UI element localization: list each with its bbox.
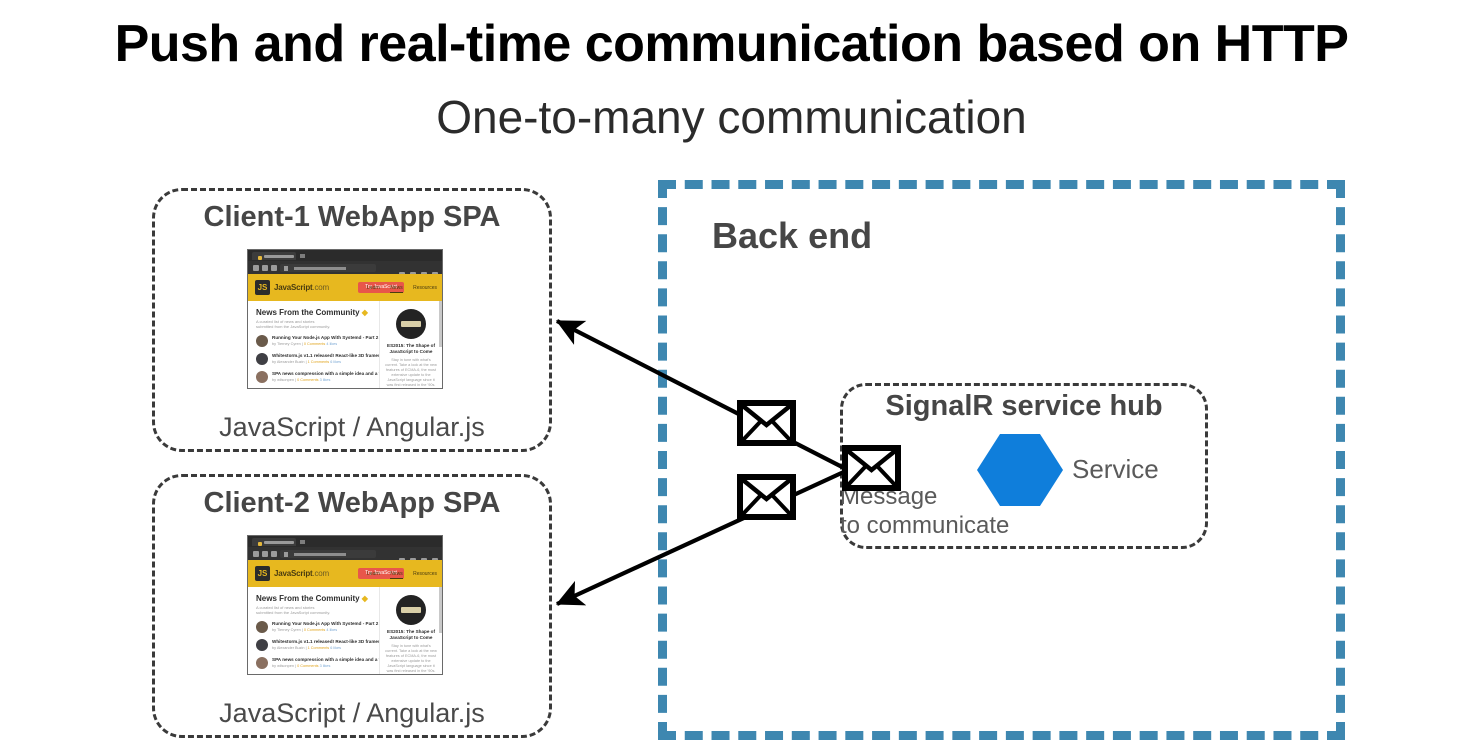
- article-author: by Alexander Buzin: [272, 646, 305, 650]
- browser-url-bar: [280, 550, 376, 558]
- browser-tab: [252, 538, 296, 546]
- article-author: by wilsonpen: [272, 378, 294, 382]
- promo-title: ES2015: The Shape of JavaScript to Come: [385, 629, 437, 641]
- browser-favicon: [258, 256, 262, 260]
- client-1-box[interactable]: Client-1 WebApp SPA: [152, 188, 552, 452]
- site-wordmark: JavaScript.com: [274, 283, 329, 292]
- site-nav-news: News: [390, 285, 403, 293]
- browser-scrollbar[interactable]: [439, 301, 442, 347]
- hub-message-label-line2: to communicate: [840, 511, 1009, 540]
- article-score: 6 likes: [330, 646, 341, 650]
- avatar: [256, 657, 268, 669]
- page-subtitle: One-to-many communication: [0, 90, 1463, 144]
- article-author: by Tierney Cyren: [272, 628, 301, 632]
- avatar: [256, 335, 268, 347]
- new-tab-icon: [300, 540, 305, 544]
- article-comments: 0 Comments: [297, 378, 319, 382]
- site-subheading: A curated list of news and stories submi…: [256, 319, 332, 329]
- client-1-browser-screenshot: JS JavaScript.com Try JavaScript Learn N…: [247, 249, 443, 389]
- article-comments: 1 Comments: [308, 360, 330, 364]
- browser-tab-title: [264, 541, 294, 544]
- client-1-title: Client-1 WebApp SPA: [155, 201, 549, 234]
- browser-titlebar: [248, 250, 442, 261]
- article-score: 3 likes: [320, 664, 331, 668]
- browser-url-text: [294, 267, 346, 270]
- promo-body: Stay in tune with what's current. Take a…: [385, 644, 437, 674]
- site-nav-learn: Learn: [367, 571, 380, 577]
- avatar: [256, 353, 268, 365]
- site-wordmark: JavaScript.com: [274, 569, 329, 578]
- site-sidebar: ES2015: The Shape of JavaScript to Come …: [379, 301, 442, 388]
- browser-url-text: [294, 553, 346, 556]
- promo-title: ES2015: The Shape of JavaScript to Come: [385, 343, 437, 355]
- site-header: JS JavaScript.com Try JavaScript Learn N…: [248, 560, 442, 587]
- client-2-title: Client-2 WebApp SPA: [155, 487, 549, 520]
- site-logo-icon: JS: [255, 566, 270, 581]
- site-nav-resources: Resources: [413, 571, 437, 577]
- hub-message-label-line1: Message: [840, 482, 1009, 511]
- article-comments: 1 Comments: [308, 646, 330, 650]
- site-nav-resources: Resources: [413, 285, 437, 291]
- site-sidebar: ES2015: The Shape of JavaScript to Come …: [379, 587, 442, 674]
- forward-icon: [262, 551, 268, 557]
- browser-favicon: [258, 542, 262, 546]
- browser-toolbar: [248, 547, 442, 560]
- site-header: JS JavaScript.com Try JavaScript Learn N…: [248, 274, 442, 301]
- site-body: News From the Community ◆ A curated list…: [248, 587, 442, 674]
- new-tab-icon: [300, 254, 305, 258]
- avatar: [256, 371, 268, 383]
- article-score: 3 likes: [320, 378, 331, 382]
- site-nav: Learn News Resources: [358, 285, 437, 291]
- service-label: Service: [1072, 454, 1159, 485]
- site-logo-icon: JS: [255, 280, 270, 295]
- article-comments: 0 Comments: [304, 342, 326, 346]
- browser-scrollbar[interactable]: [439, 587, 442, 633]
- article-comments: 0 Comments: [297, 664, 319, 668]
- avatar: [256, 621, 268, 633]
- page-title: Push and real-time communication based o…: [0, 14, 1463, 74]
- site-heading: News From the Community ◆: [256, 594, 375, 603]
- back-icon: [253, 265, 259, 271]
- article-author: by Alexander Buzin: [272, 360, 305, 364]
- refresh-icon: [271, 551, 277, 557]
- article-author: by Tierney Cyren: [272, 342, 301, 346]
- promo-body: Stay in tune with what's current. Take a…: [385, 358, 437, 388]
- lock-icon: [284, 552, 288, 557]
- browser-titlebar: [248, 536, 442, 547]
- article-score: 4 likes: [326, 628, 337, 632]
- site-subheading: A curated list of news and stories submi…: [256, 605, 332, 615]
- client-1-footer: JavaScript / Angular.js: [155, 412, 549, 443]
- browser-tab: [252, 252, 296, 260]
- promo-logo-icon: [396, 595, 426, 625]
- refresh-icon: [271, 265, 277, 271]
- window-controls: [406, 540, 438, 544]
- hub-message-label: Message to communicate: [840, 482, 1009, 540]
- site-heading: News From the Community ◆: [256, 308, 375, 317]
- site-nav-learn: Learn: [367, 285, 380, 291]
- back-icon: [253, 551, 259, 557]
- avatar: [256, 639, 268, 651]
- backend-label: Back end: [712, 215, 872, 257]
- browser-tab-title: [264, 255, 294, 258]
- forward-icon: [262, 265, 268, 271]
- window-controls: [406, 254, 438, 258]
- slide-canvas: Push and real-time communication based o…: [0, 0, 1463, 752]
- browser-toolbar: [248, 261, 442, 274]
- client-2-box[interactable]: Client-2 WebApp SPA: [152, 474, 552, 738]
- signalr-hub-title: SignalR service hub: [864, 390, 1184, 423]
- article-score: 4 likes: [326, 342, 337, 346]
- client-2-footer: JavaScript / Angular.js: [155, 698, 549, 729]
- site-nav-news: News: [390, 571, 403, 579]
- site-nav: Learn News Resources: [358, 571, 437, 577]
- promo-logo-icon: [396, 309, 426, 339]
- article-comments: 0 Comments: [304, 628, 326, 632]
- article-author: by wilsonpen: [272, 664, 294, 668]
- client-2-browser-screenshot: JS JavaScript.com Try JavaScript Learn N…: [247, 535, 443, 675]
- browser-url-bar: [280, 264, 376, 272]
- lock-icon: [284, 266, 288, 271]
- site-body: News From the Community ◆ A curated list…: [248, 301, 442, 388]
- article-score: 6 likes: [330, 360, 341, 364]
